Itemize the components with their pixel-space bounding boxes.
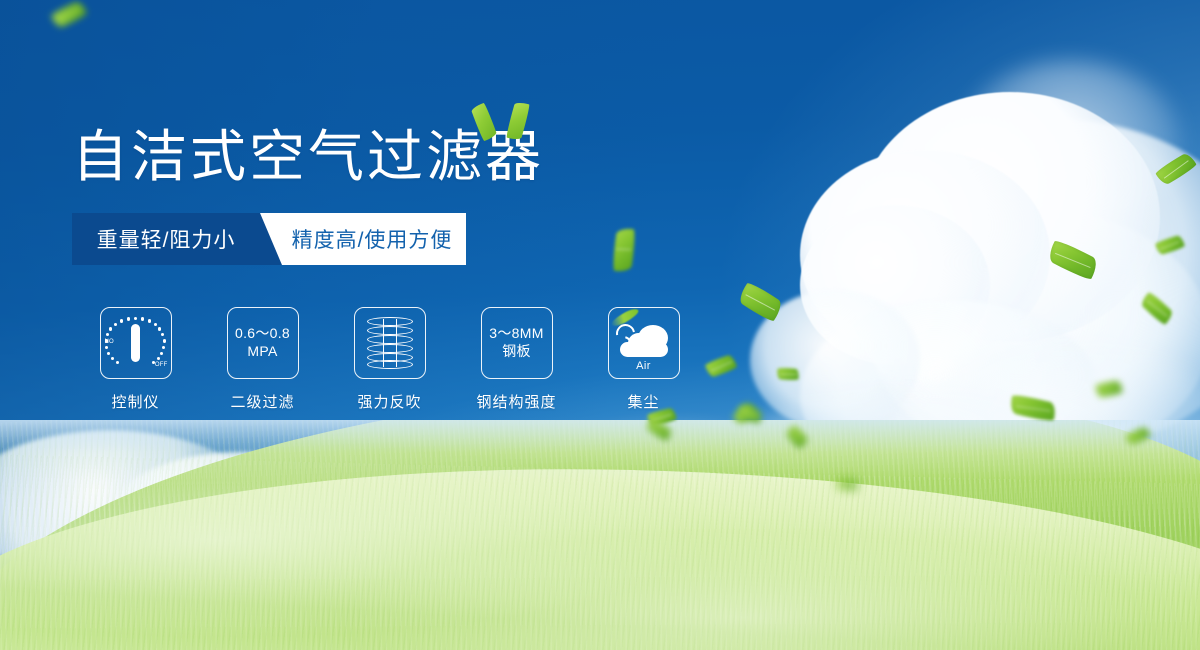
feature-list: NO OFF 控制仪 0.6～0.8 MPA 二级过滤 <box>72 307 712 412</box>
gauge-needle <box>131 324 140 362</box>
gauge-dial-icon: NO OFF <box>105 315 167 371</box>
feature-label: 强力反吹 <box>357 391 421 412</box>
feature-icon-box: Air <box>608 307 680 379</box>
feature-item-steel-structure-strength[interactable]: 3～8MM 钢板 钢结构强度 <box>453 307 580 412</box>
steel-plate-value-line-2: 钢板 <box>502 343 531 361</box>
feature-label: 控制仪 <box>111 391 159 412</box>
tagline-left-segment: 重量轻/阻力小 <box>72 213 260 265</box>
feature-item-control-instrument[interactable]: NO OFF 控制仪 <box>72 307 199 412</box>
pressure-value-line-2: MPA <box>247 343 277 361</box>
feature-label: 二级过滤 <box>230 391 294 412</box>
feature-item-strong-backblow[interactable]: 强力反吹 <box>326 307 453 412</box>
gauge-on-label: NO <box>105 339 114 345</box>
promo-banner: 自洁式空气过滤器 重量轻/阻力小 精度高/使用方便 <box>0 0 1200 650</box>
air-caption: Air <box>614 360 674 372</box>
feature-icon-box <box>354 307 426 379</box>
feature-label: 钢结构强度 <box>476 391 556 412</box>
tagline-right-text: 精度高/使用方便 <box>292 224 453 254</box>
banner-content: 自洁式空气过滤器 重量轻/阻力小 精度高/使用方便 <box>72 128 712 412</box>
feature-icon-box: NO OFF <box>100 307 172 379</box>
feature-icon-box: 0.6～0.8 MPA <box>227 307 299 379</box>
filter-cartridge-icon <box>367 317 413 369</box>
feature-icon-box: 3～8MM 钢板 <box>481 307 553 379</box>
feature-label: 集尘 <box>627 391 659 412</box>
pressure-value-line-1: 0.6～0.8 <box>235 325 290 343</box>
page-title: 自洁式空气过滤器 <box>72 128 712 187</box>
tagline-right-segment: 精度高/使用方便 <box>260 213 466 265</box>
gauge-off-label: OFF <box>155 362 168 368</box>
steel-plate-value-line-1: 3～8MM <box>489 325 543 343</box>
feature-item-two-stage-filtration[interactable]: 0.6～0.8 MPA 二级过滤 <box>199 307 326 412</box>
tagline-badge: 重量轻/阻力小 精度高/使用方便 <box>72 213 466 265</box>
cloud-air-icon: Air <box>614 315 674 371</box>
tagline-left-text: 重量轻/阻力小 <box>97 224 236 254</box>
feature-item-dust-collection[interactable]: Air 集尘 <box>580 307 707 412</box>
grass-field <box>0 420 1200 650</box>
